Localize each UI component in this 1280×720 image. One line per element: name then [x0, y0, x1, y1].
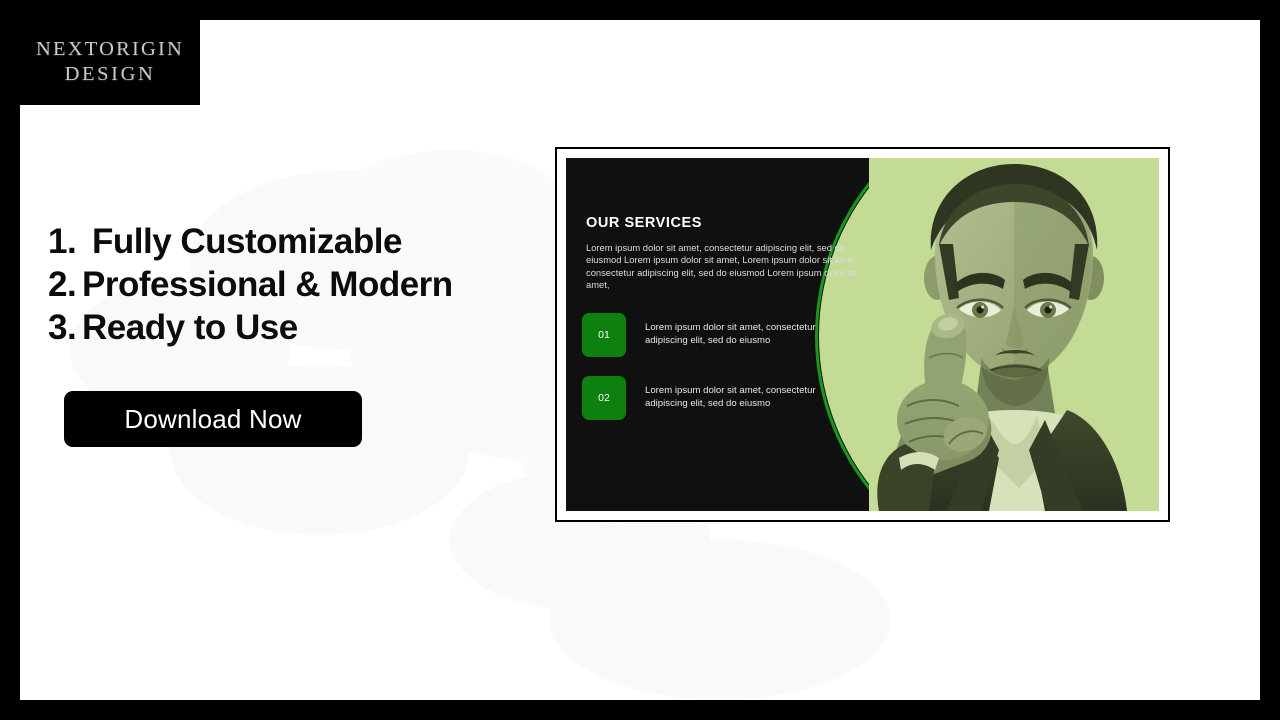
service-item-text: Lorem ipsum dolor sit amet, consectetur … — [645, 322, 845, 347]
feature-number: 1. — [48, 220, 92, 263]
feature-number: 3. — [48, 306, 82, 349]
service-number-badge: 02 — [582, 376, 626, 420]
services-body-text: Lorem ipsum dolor sit amet, consectetur … — [586, 242, 858, 292]
brand-logo[interactable]: NEXTORIGIN DESIGN — [20, 18, 200, 105]
list-item: 2. Professional & Modern — [48, 263, 548, 306]
left-content-column: 1. Fully Customizable 2. Professional & … — [48, 220, 548, 447]
service-number-badge: 01 — [582, 313, 626, 357]
list-item[interactable]: 02 Lorem ipsum dolor sit amet, consectet… — [582, 376, 872, 420]
feature-number: 2. — [48, 263, 82, 306]
feature-list: 1. Fully Customizable 2. Professional & … — [48, 220, 548, 349]
logo-line-primary: NEXTORIGIN — [36, 37, 184, 62]
feature-label: Fully Customizable — [92, 220, 402, 263]
list-item[interactable]: 01 Lorem ipsum dolor sit amet, consectet… — [582, 313, 872, 357]
list-item: 1. Fully Customizable — [48, 220, 548, 263]
services-preview-card[interactable]: OUR SERVICES Lorem ipsum dolor sit amet,… — [555, 147, 1170, 522]
download-now-button[interactable]: Download Now — [64, 391, 362, 447]
pointing-man-illustration — [869, 158, 1159, 511]
services-heading: OUR SERVICES — [586, 215, 702, 231]
services-card-inner-panel: OUR SERVICES Lorem ipsum dolor sit amet,… — [566, 158, 1159, 511]
services-item-list: 01 Lorem ipsum dolor sit amet, consectet… — [582, 313, 872, 439]
feature-label: Professional & Modern — [82, 263, 453, 306]
service-item-text: Lorem ipsum dolor sit amet, consectetur … — [645, 385, 845, 410]
slide-canvas: NEXTORIGIN DESIGN 1. Fully Customizable … — [0, 0, 1280, 720]
logo-line-secondary: DESIGN — [65, 62, 156, 87]
list-item: 3. Ready to Use — [48, 306, 548, 349]
feature-label: Ready to Use — [82, 306, 298, 349]
